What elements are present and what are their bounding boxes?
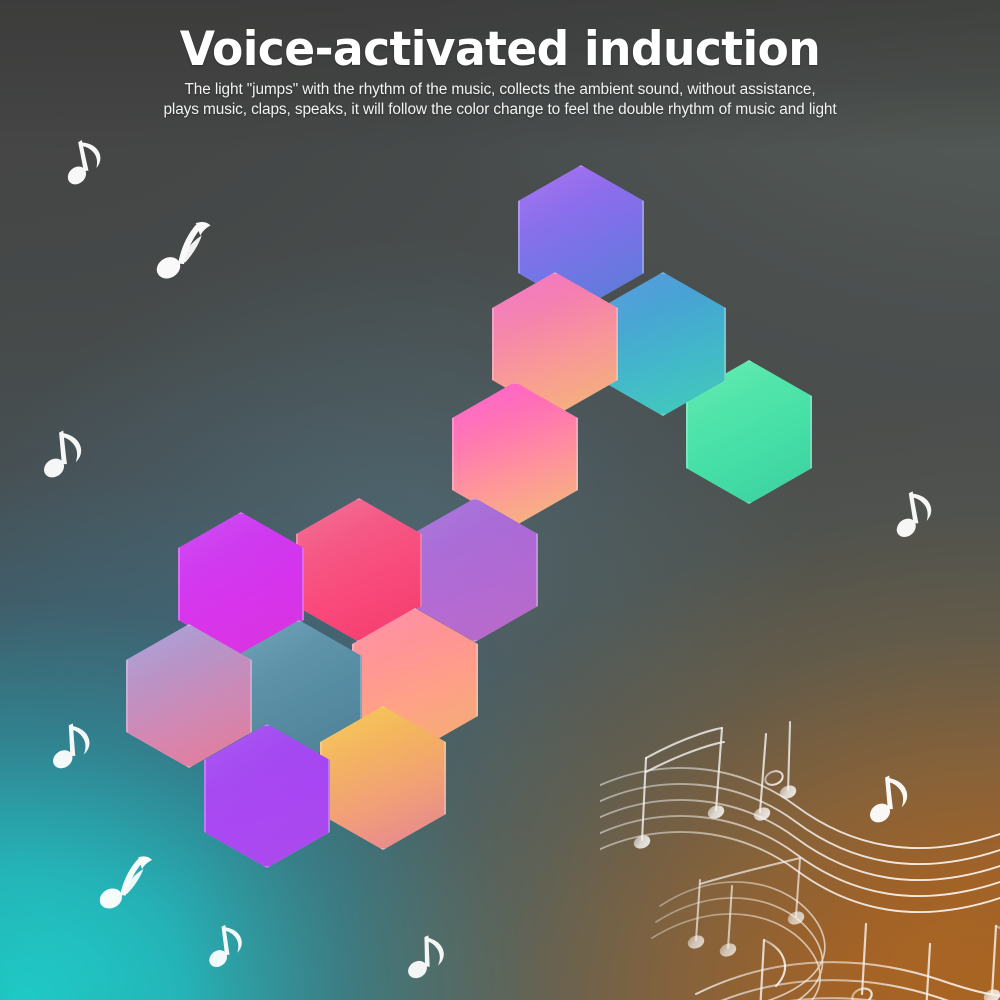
product-banner: Voice-activated induction The light "jum… (0, 0, 1000, 1000)
subtitle-line-2: plays music, claps, speaks, it will foll… (0, 100, 1000, 120)
subtitle-line-1: The light "jumps" with the rhythm of the… (0, 80, 1000, 100)
page-title: Voice-activated induction (15, 26, 985, 74)
page-subtitle: The light "jumps" with the rhythm of the… (0, 80, 1000, 120)
header: Voice-activated induction The light "jum… (0, 26, 1000, 120)
hexagon-light-panel-cluster (0, 0, 1000, 1000)
